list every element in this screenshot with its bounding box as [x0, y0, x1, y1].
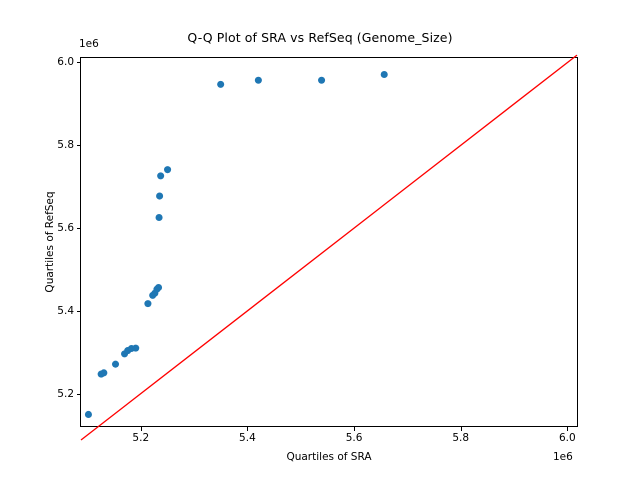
scatter-point	[164, 166, 171, 173]
x-tick-mark	[354, 427, 355, 431]
scatter-point	[217, 81, 224, 88]
scatter-point	[144, 300, 151, 307]
y-tick-label: 5.4	[57, 305, 74, 317]
y-axis-label: Quartiles of RefSeq	[44, 57, 56, 427]
y-tick-mark	[77, 62, 81, 63]
y-tick-mark	[77, 394, 81, 395]
y-tick-mark	[77, 145, 81, 146]
y-tick-mark	[77, 228, 81, 229]
x-tick-mark	[567, 427, 568, 431]
x-tick-label: 5.6	[346, 432, 363, 444]
scatter-point	[100, 369, 107, 376]
x-tick-label: 6.0	[559, 432, 576, 444]
matplotlib-figure: Q-Q Plot of SRA vs RefSeq (Genome_Size) …	[0, 0, 640, 480]
y-tick-label: 5.8	[57, 139, 74, 151]
x-axis-label: Quartiles of SRA	[80, 451, 578, 463]
plot-canvas	[81, 58, 577, 426]
x-axis-offset-label: 1e6	[553, 451, 573, 463]
x-tick-label: 5.8	[452, 432, 469, 444]
plot-axes	[80, 57, 578, 427]
x-tick-label: 5.2	[132, 432, 149, 444]
scatter-markers	[85, 71, 388, 418]
identity-line	[81, 55, 577, 440]
x-tick-label: 5.4	[239, 432, 256, 444]
y-tick-mark	[77, 311, 81, 312]
y-axis-offset-label: 1e6	[79, 38, 99, 50]
y-tick-label: 5.6	[57, 222, 74, 234]
scatter-point	[155, 284, 162, 291]
x-tick-mark	[461, 427, 462, 431]
x-tick-mark	[247, 427, 248, 431]
scatter-point	[157, 172, 164, 179]
scatter-point	[318, 77, 325, 84]
y-tick-label: 6.0	[57, 56, 74, 68]
scatter-point	[156, 214, 163, 221]
scatter-point	[255, 77, 262, 84]
x-tick-mark	[141, 427, 142, 431]
scatter-point	[112, 361, 119, 368]
scatter-point	[381, 71, 388, 78]
identity-line	[81, 55, 577, 440]
scatter-point	[85, 411, 92, 418]
scatter-point	[156, 193, 163, 200]
y-tick-label: 5.2	[57, 388, 74, 400]
scatter-point	[132, 345, 139, 352]
